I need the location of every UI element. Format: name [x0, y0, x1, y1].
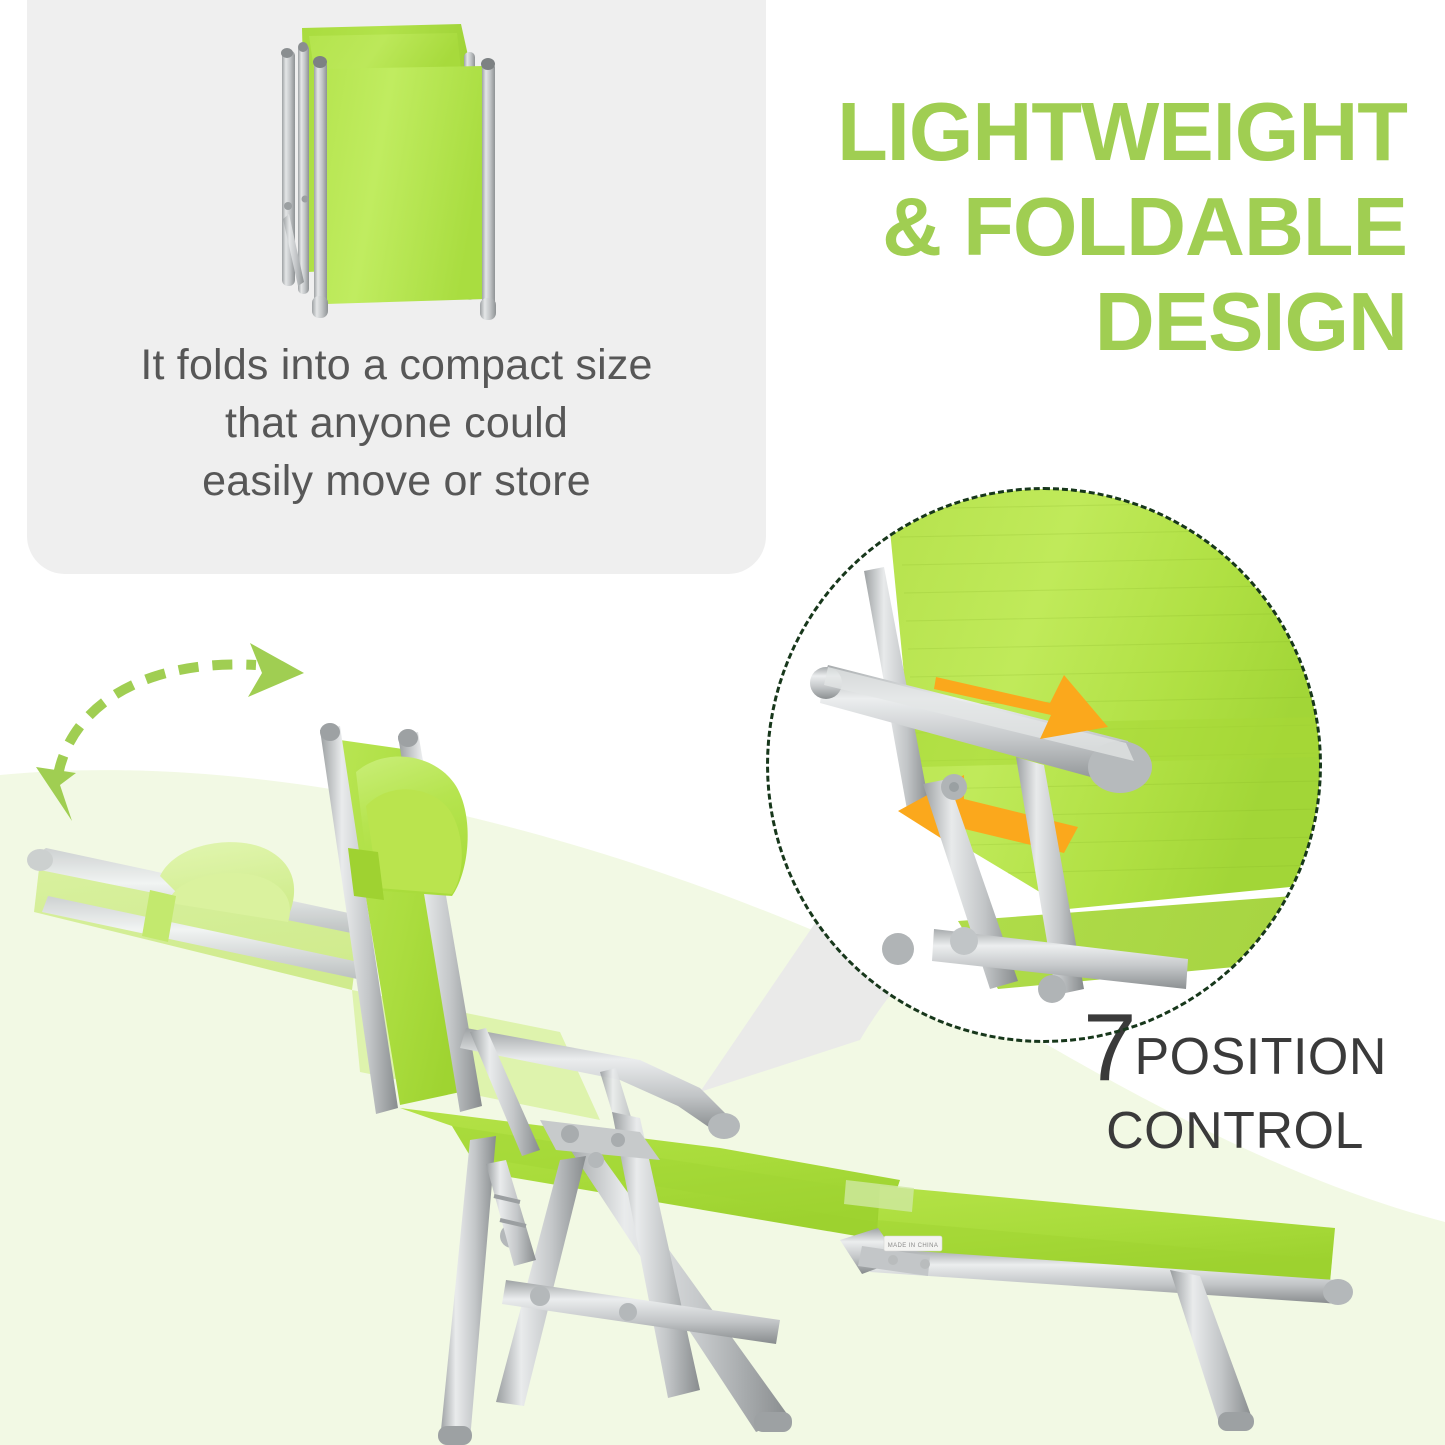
caption-line-3: easily move or store [27, 452, 766, 510]
info-card-caption: It folds into a compact size that anyone… [27, 336, 766, 510]
front-left-leg [440, 1136, 496, 1440]
position-word: POSITION [1134, 1028, 1386, 1086]
svg-text:MADE IN CHINA: MADE IN CHINA [888, 1243, 939, 1249]
page-headline: LIGHTWEIGHT & FOLDABLE DESIGN [747, 84, 1407, 369]
control-word: CONTROL [1065, 1102, 1405, 1162]
folded-chair-photo [258, 14, 548, 339]
position-count-number: 7 [1083, 994, 1134, 1101]
headline-line-3: DESIGN [747, 274, 1407, 369]
headline-line-2: & FOLDABLE [747, 179, 1407, 274]
headline-line-1: LIGHTWEIGHT [747, 84, 1407, 179]
caption-line-2: that anyone could [27, 394, 766, 452]
seven-position-control-label: 7POSITION CONTROL [1065, 1000, 1405, 1162]
chair-reclined-ghost [27, 842, 600, 1120]
product-feature-graphic: It folds into a compact size that anyone… [0, 0, 1445, 1445]
caption-line-1: It folds into a compact size [27, 336, 766, 394]
